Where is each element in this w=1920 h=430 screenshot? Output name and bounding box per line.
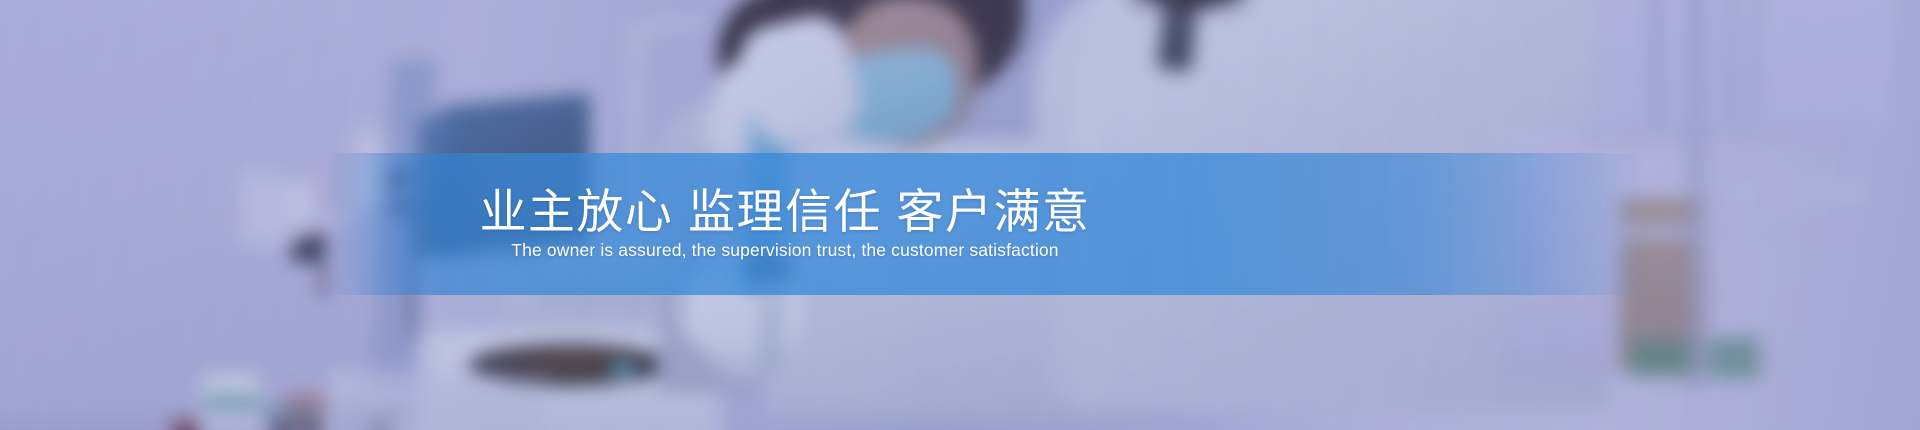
background-photo xyxy=(0,0,1920,430)
window-mullion xyxy=(1650,0,1663,132)
storage-shelf xyxy=(1606,184,1866,198)
lab-monitor-side xyxy=(418,113,460,257)
power-cable xyxy=(320,240,325,300)
window-mullion xyxy=(1726,0,1735,132)
faucet-stem xyxy=(630,20,640,230)
hero-banner: 业主放心 监理信任 客户满意 The owner is assured, the… xyxy=(0,0,1920,430)
wall-corner xyxy=(310,370,549,430)
right-wall-panel xyxy=(1500,130,1620,380)
background-photo-scene xyxy=(0,0,1920,430)
window-mullion xyxy=(1752,0,1759,132)
window xyxy=(1592,0,1892,130)
structural-post xyxy=(1688,0,1710,390)
storage-shelf xyxy=(1620,226,1860,238)
pipette-band xyxy=(745,257,790,281)
window-sill xyxy=(1580,126,1870,144)
bottle-cap xyxy=(204,374,258,398)
wall-outlet-icon xyxy=(240,172,278,244)
lab-monitor xyxy=(440,93,590,256)
analyzer-indicator xyxy=(612,362,634,378)
